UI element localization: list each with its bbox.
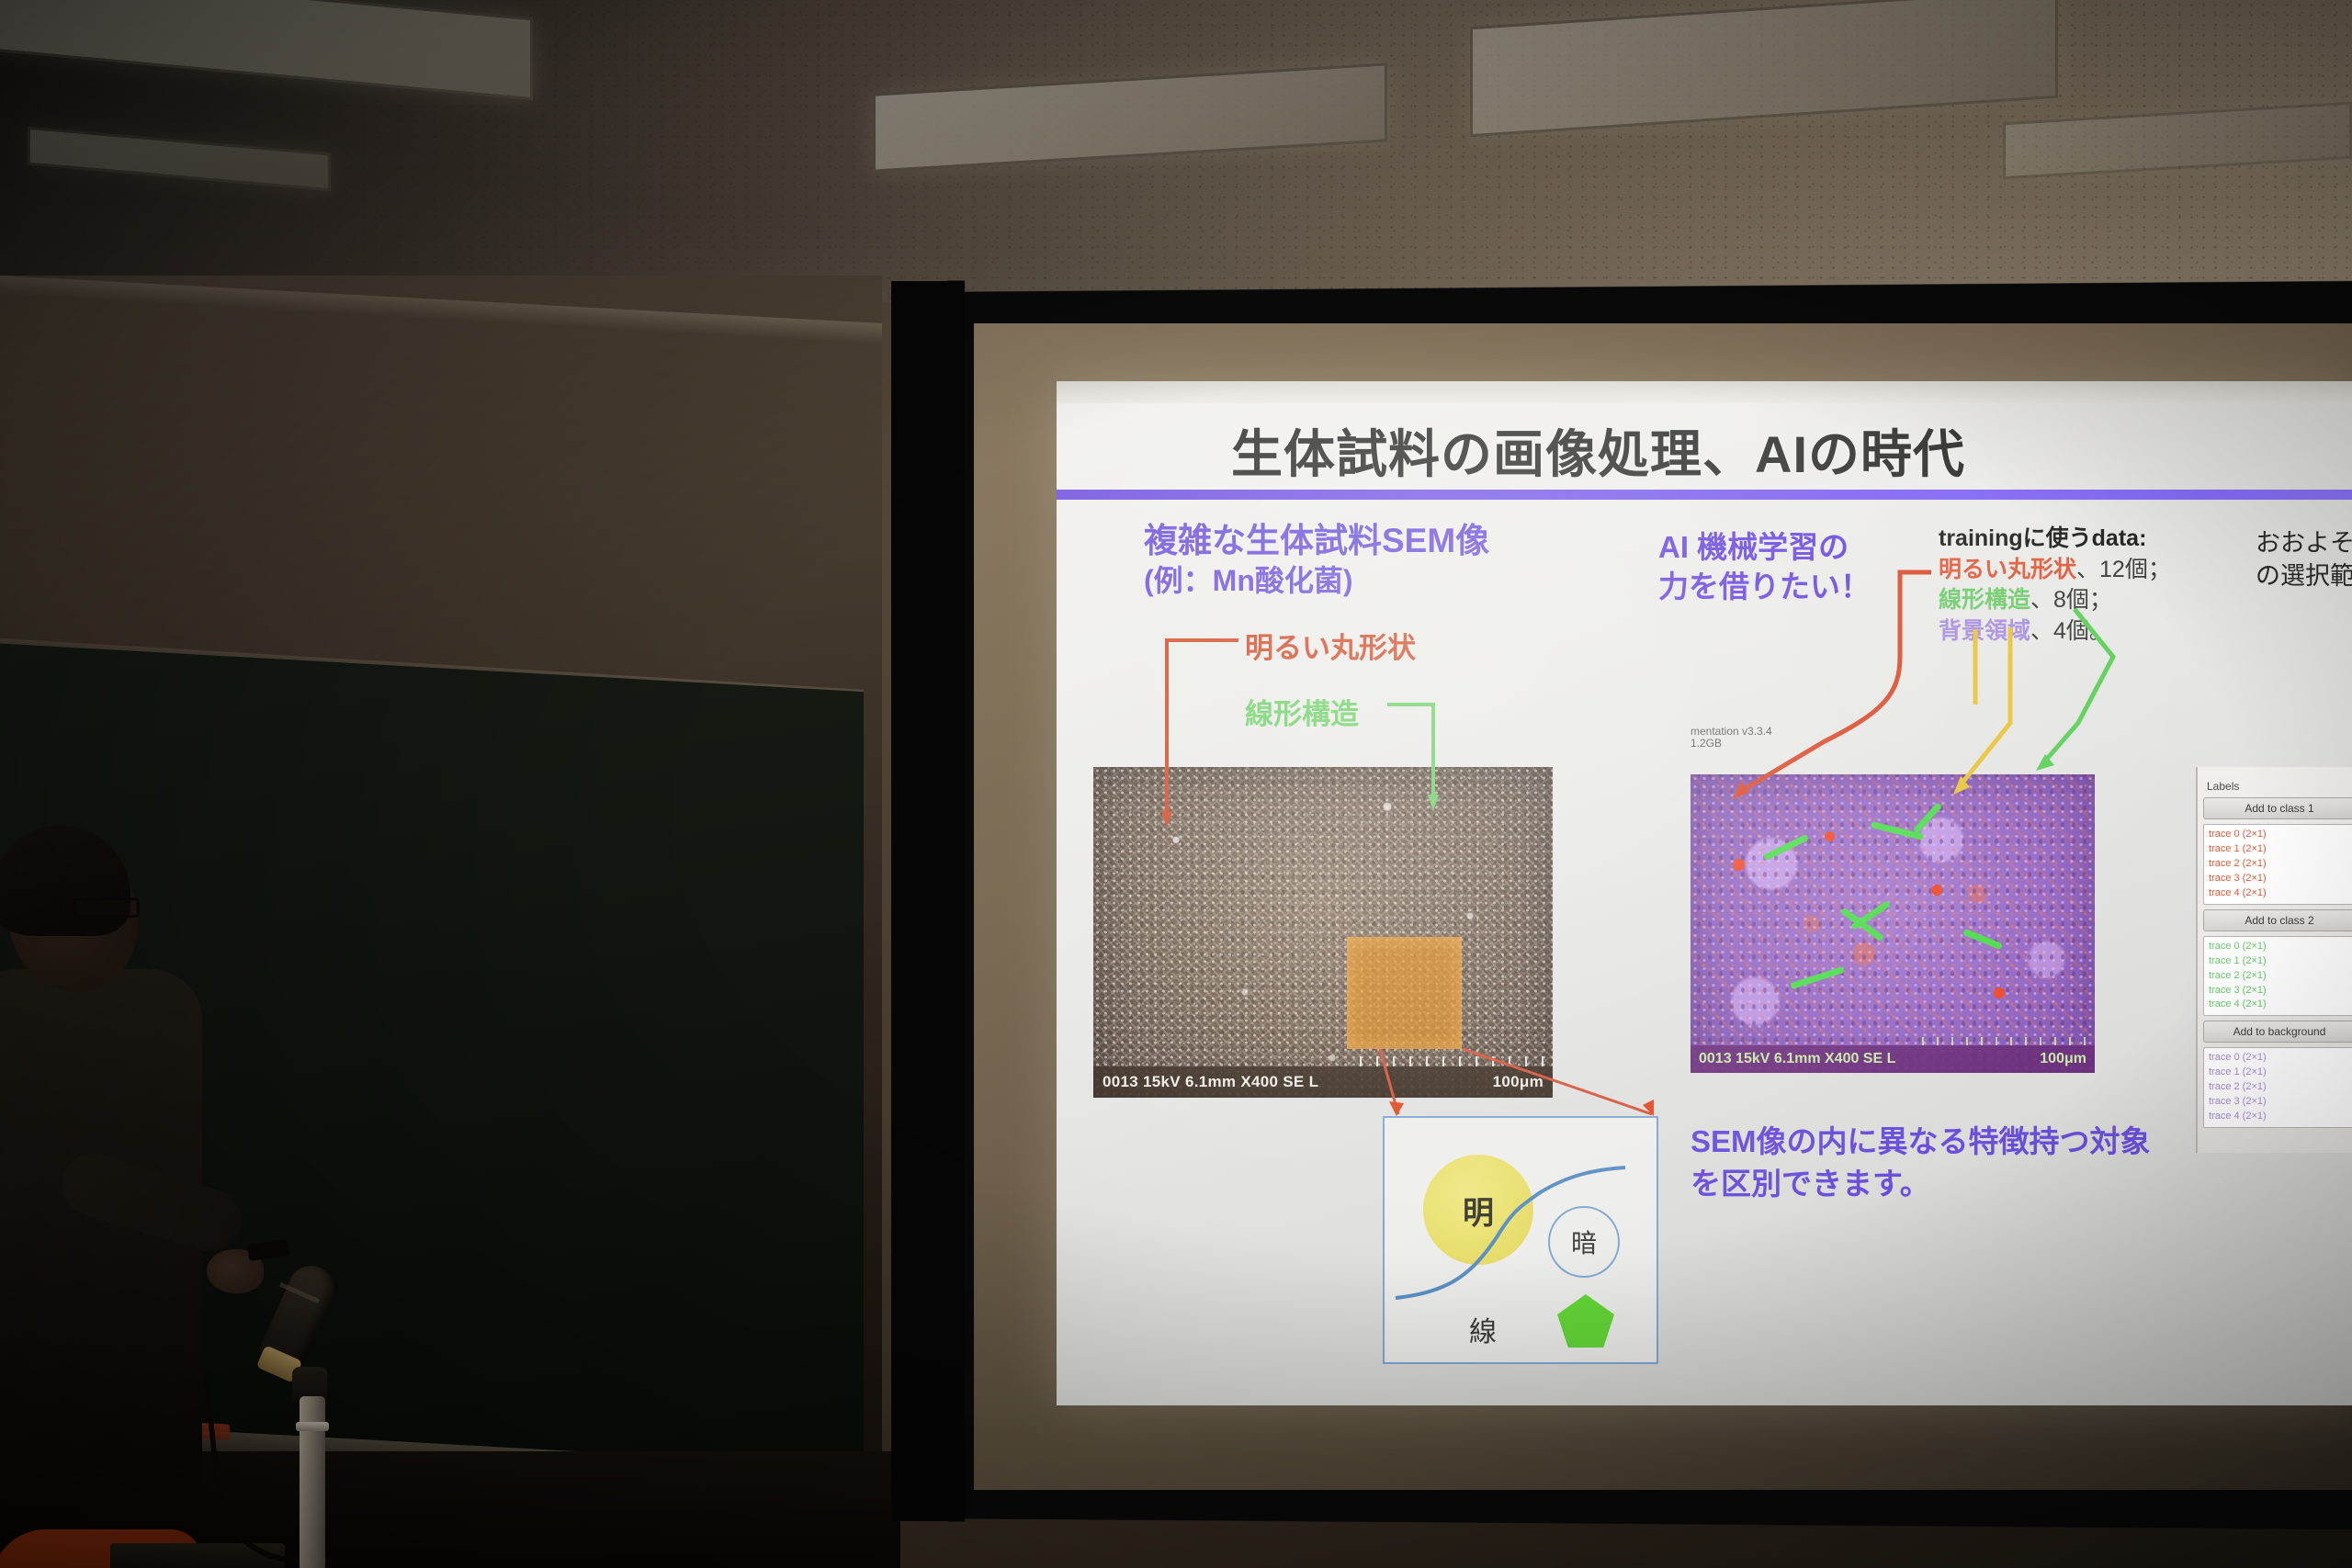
training-label-background: 背景領域 [1939, 618, 2030, 644]
left-heading-line1: 複雑な生体試料SEM像 [1144, 522, 1489, 559]
file-size-label: 1.2GB [1690, 737, 1722, 750]
training-data-block: trainingに使うdata: 明るい丸形状、12個； 線形構造、8個； 背景… [1939, 524, 2171, 647]
lecture-hall-scene: 生体試料の画像処理、AIの時代 複雑な生体試料SEM像 (例：Mn酸化菌) AI… [0, 0, 2352, 1568]
labels-title: Labels [2207, 780, 2352, 793]
list-item[interactable]: trace 4 (2×1) [2209, 886, 2350, 901]
app-version-label: mentation v3.3.4 [1690, 725, 1772, 738]
left-heading: 複雑な生体試料SEM像 (例：Mn酸化菌) [1144, 519, 1489, 600]
list-item[interactable]: trace 4 (2×1) [2209, 1110, 2350, 1124]
add-to-background-button[interactable]: Add to background [2203, 1021, 2352, 1043]
presenter-hair [0, 826, 130, 936]
sem-image-segmented: 0013 15kV 6.1mm X400 SE L 100μm [1690, 774, 2095, 1073]
sem-caption-right: 100μm [1493, 1073, 1543, 1091]
slide-top-strip [1057, 381, 2352, 403]
sem-caption-left: 0013 15kV 6.1mm X400 SE L [1102, 1073, 1318, 1091]
list-item[interactable]: trace 3 (2×1) [2209, 984, 2350, 998]
list-item[interactable]: trace 0 (2×1) [2209, 828, 2350, 842]
segmentation-caption-bar: 0013 15kV 6.1mm X400 SE L 100μm [1690, 1045, 2095, 1073]
ai-callout: AI 機械学習の 力を借りたい！ [1658, 528, 1871, 607]
training-header: trainingに使うdata: [1939, 524, 2171, 555]
class-1-trace-list[interactable]: trace 0 (2×1) trace 1 (2×1) trace 2 (2×1… [2203, 824, 2352, 905]
feature-diagram: 明 暗 線 [1383, 1116, 1658, 1364]
list-item[interactable]: trace 3 (2×1) [2209, 1095, 2350, 1110]
training-label-bright: 明るい丸形状 [1939, 557, 2076, 582]
training-row: 明るい丸形状、12個； [1939, 555, 2171, 586]
list-item[interactable]: trace 1 (2×1) [2209, 842, 2350, 857]
trace-mark-red [1733, 859, 1745, 871]
scale-bar-ticks [1922, 1037, 2087, 1045]
class-2-trace-list[interactable]: trace 0 (2×1) trace 1 (2×1) trace 2 (2×1… [2203, 936, 2352, 1017]
list-item[interactable]: trace 2 (2×1) [2209, 969, 2350, 984]
segmentation-panel: mentation v3.3.4 1.2GB 0013 15kV 6.1mm X… [1690, 749, 2168, 1102]
list-item[interactable]: trace 2 (2×1) [2209, 857, 2350, 872]
seg-caption-right: 100μm [2040, 1051, 2086, 1067]
conclusion-text: SEM像の内に異なる特徴持つ対象 を区別できます。 [1690, 1121, 2151, 1204]
training-count-bright: 、12個； [2076, 557, 2171, 582]
roi-highlight-box [1347, 937, 1462, 1049]
ai-callout-line1: AI 機械学習の [1658, 528, 1871, 568]
add-to-class-2-button[interactable]: Add to class 2 [2203, 909, 2352, 931]
projected-slide: 生体試料の画像処理、AIの時代 複雑な生体試料SEM像 (例：Mn酸化菌) AI… [1057, 381, 2352, 1405]
labels-side-panel: Labels Add to class 1 trace 0 (2×1) trac… [2196, 767, 2352, 1153]
list-item[interactable]: trace 4 (2×1) [2209, 998, 2350, 1012]
background-trace-list[interactable]: trace 0 (2×1) trace 1 (2×1) trace 2 (2×1… [2203, 1047, 2352, 1128]
training-row: 線形構造、8個； [1939, 585, 2171, 616]
list-item[interactable]: trace 1 (2×1) [2209, 1066, 2350, 1080]
add-to-class-1-button[interactable]: Add to class 1 [2203, 797, 2352, 819]
trace-mark-red [1825, 831, 1835, 841]
list-item[interactable]: trace 2 (2×1) [2209, 1080, 2350, 1095]
seg-caption-left: 0013 15kV 6.1mm X400 SE L [1699, 1051, 1895, 1067]
annotation-label-linear: 線形構造 [1245, 691, 1359, 732]
annotation-label-bright: 明るい丸形状 [1245, 625, 1416, 666]
right-cut-line1: おおよそ [2256, 526, 2352, 559]
segmentation-toolbar: mentation v3.3.4 1.2GB [1690, 725, 2021, 749]
left-heading-line2: (例：Mn酸化菌) [1144, 562, 1489, 600]
sem-texture [1093, 767, 1553, 1098]
microphone-stand-ring [296, 1422, 329, 1431]
sem-caption-bar: 0013 15kV 6.1mm X400 SE L 100μm [1093, 1066, 1553, 1098]
trace-mark-red [1931, 885, 1942, 896]
title-underline [1057, 490, 2352, 500]
segmentation-texture [1690, 774, 2095, 1073]
list-item[interactable]: trace 1 (2×1) [2209, 954, 2350, 969]
scale-bar-ticks [1360, 1056, 1543, 1066]
right-cut-text: おおよそ の選択範囲 [2256, 526, 2352, 593]
ai-callout-line2: 力を借りたい！ [1658, 568, 1871, 607]
training-row: 背景領域、4個。 [1939, 616, 2171, 648]
conclusion-line2: を区別できます。 [1690, 1163, 2151, 1205]
list-item[interactable]: trace 0 (2×1) [2209, 940, 2350, 954]
s-curve-icon [1385, 1118, 1660, 1366]
training-label-linear: 線形構造 [1939, 587, 2030, 613]
sem-image-original: 0013 15kV 6.1mm X400 SE L 100μm [1093, 767, 1553, 1098]
list-item[interactable]: trace 0 (2×1) [2209, 1051, 2350, 1066]
training-count-linear: 、8個； [2030, 587, 2112, 613]
trace-mark-red [1994, 987, 2005, 998]
training-count-background: 、4個。 [2030, 618, 2112, 644]
list-item[interactable]: trace 3 (2×1) [2209, 872, 2350, 886]
page-title: 生体試料の画像処理、AIの時代 [1231, 413, 1965, 488]
conclusion-line1: SEM像の内に異なる特徴持つ対象 [1690, 1121, 2151, 1163]
glasses-icon [73, 897, 140, 918]
right-cut-line2: の選択範囲 [2256, 559, 2352, 592]
